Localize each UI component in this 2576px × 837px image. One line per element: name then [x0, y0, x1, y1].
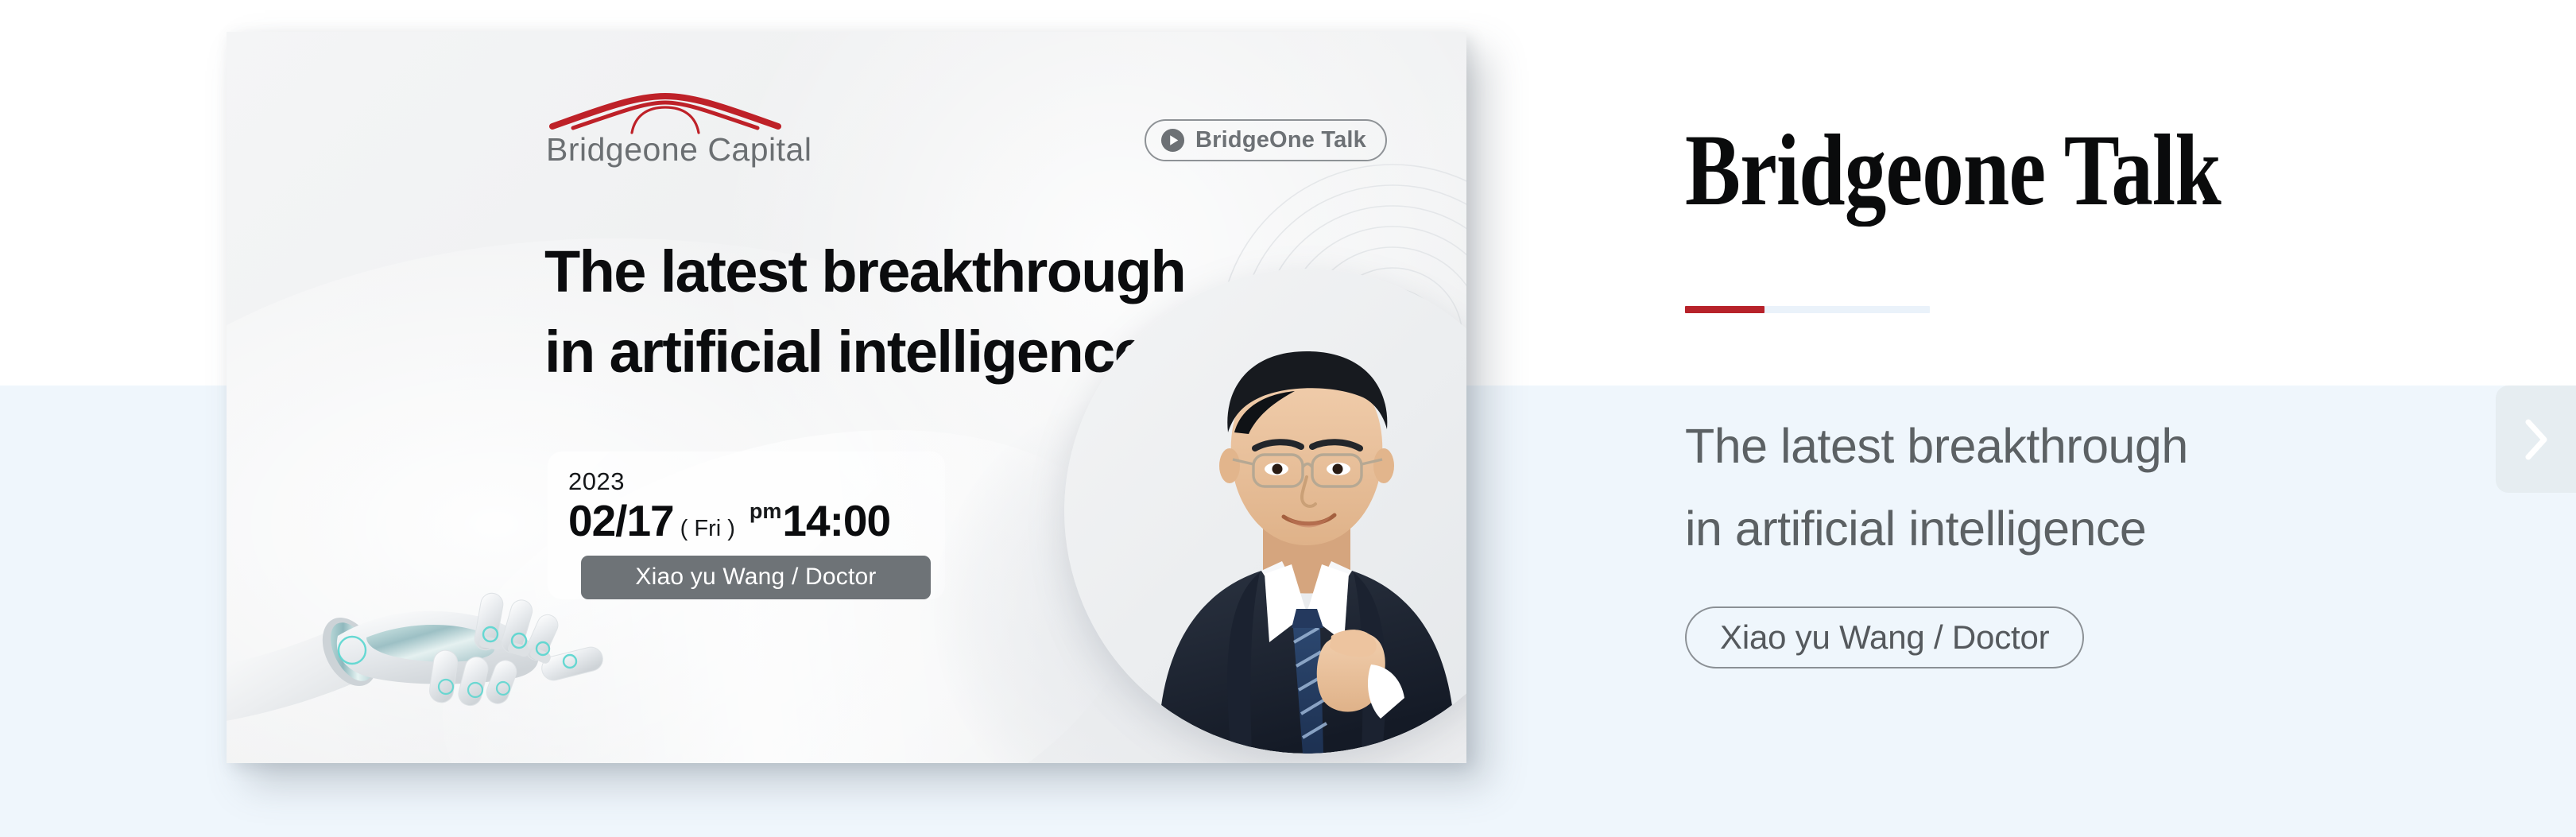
brand-logo: Bridgeone Capital: [546, 91, 792, 169]
slide-speaker-chip: Xiao yu Wang / Doctor: [581, 556, 931, 599]
event-time: 14:00: [782, 499, 890, 543]
robot-hand-image: [227, 517, 624, 763]
chevron-right-icon: [2518, 417, 2555, 463]
brand-logo-text: Bridgeone Capital: [546, 131, 792, 169]
event-weekday: ( Fri ): [680, 517, 735, 541]
badge-label: BridgeOne Talk: [1195, 127, 1366, 153]
event-year: 2023: [568, 469, 924, 494]
speaker-portrait-image: [1064, 269, 1466, 754]
event-meridiem: pm: [750, 501, 782, 522]
slide-info-panel: Bridgeone Talk The latest breakthrough i…: [1685, 0, 2576, 837]
panel-title: Bridgeone Talk: [1685, 119, 2221, 221]
slide-preview-card[interactable]: Bridgeone Capital BridgeOne Talk The lat…: [227, 32, 1466, 763]
play-circle-icon: [1160, 128, 1185, 153]
bridge-arch-icon: [546, 91, 784, 136]
slide-banner: Bridgeone Capital BridgeOne Talk The lat…: [0, 0, 2576, 837]
speaker-portrait-zone: [990, 151, 1466, 763]
panel-subtitle: The latest breakthrough in artificial in…: [1685, 405, 2188, 570]
slide-progress-track[interactable]: [1685, 306, 1930, 313]
next-slide-button[interactable]: [2496, 386, 2576, 493]
panel-speaker-chip: Xiao yu Wang / Doctor: [1685, 606, 2084, 668]
slide-progress-fill: [1685, 306, 1764, 313]
